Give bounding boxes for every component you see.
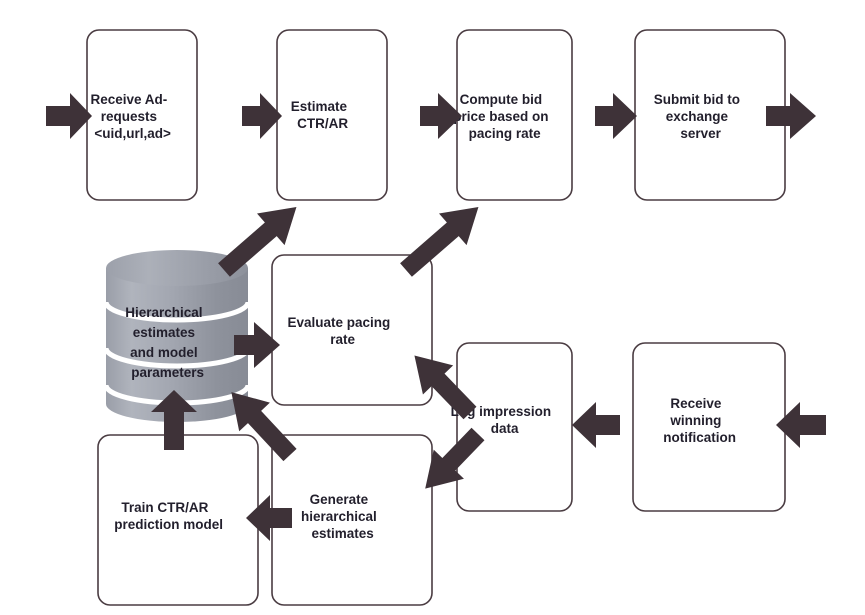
node-submit-bid-to-exchange[interactable]: Submit bid to exchange server [635, 30, 785, 200]
node-evaluate-pacing-rate[interactable]: Evaluate pacing rate [272, 255, 432, 405]
node-generate-hierarchical-estimates[interactable]: Generate hierarchical estimates [272, 435, 432, 605]
node-label-generate-hierarchical-estimates: Generate hierarchical estimates [301, 492, 403, 541]
node-label-receive-winning-notification: Receive winning notification [663, 396, 755, 445]
flowchart-diagram: Receive Ad- requests <uid,url,ad> Estima… [0, 0, 865, 615]
arrow-compute-bid-price-to-submit-bid [595, 93, 637, 139]
arrow-estimate-to-compute-bid-price [420, 93, 462, 139]
node-label-receive-ad-requests: Receive Ad- requests <uid,url,ad> [90, 92, 193, 141]
arrow-receive-winning-to-log-impression [572, 402, 620, 448]
node-receive-winning-notification[interactable]: Receive winning notification [633, 343, 785, 511]
node-compute-bid-price[interactable]: Compute bid price based on pacing rate [453, 30, 575, 200]
node-estimate-ctr-ar[interactable]: Estimate CTR/AR [277, 30, 387, 200]
node-receive-ad-requests[interactable]: Receive Ad- requests <uid,url,ad> [87, 30, 197, 200]
node-log-impression-data[interactable]: Log impression data [451, 343, 578, 511]
node-train-ctr-ar-prediction-model[interactable]: Train CTR/AR prediction model [98, 435, 258, 605]
node-label-compute-bid-price: Compute bid price based on pacing rate [453, 92, 575, 141]
node-box-evaluate-pacing-rate[interactable] [272, 255, 432, 405]
arrow-input-to-receive-ad-requests [46, 93, 92, 139]
flowchart-canvas: Receive Ad- requests <uid,url,ad> Estima… [0, 0, 865, 615]
arrow-receive-ad-requests-to-estimate [242, 93, 282, 139]
